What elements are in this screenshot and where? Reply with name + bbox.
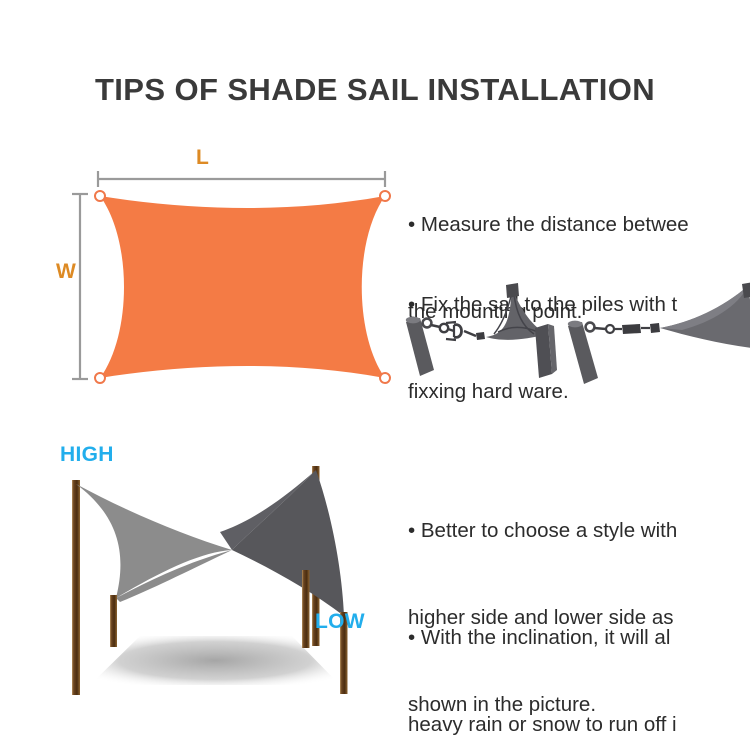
link-plate-icon — [476, 332, 485, 340]
turnbuckle-icon — [431, 322, 476, 340]
top-bracket-icon — [506, 283, 519, 298]
pole-front-middle-short — [110, 595, 117, 647]
hardware-illustration-1 — [402, 282, 582, 397]
inclined-canopy-scene: HIGH LOW — [20, 440, 420, 715]
length-dimension-line — [98, 171, 385, 187]
right-bracket-icon — [535, 324, 557, 378]
width-dimension-line — [72, 194, 88, 379]
orange-sail-shape — [100, 196, 385, 378]
high-label: HIGH — [60, 443, 114, 467]
bullet-line: • With the inclination, it will al — [408, 623, 750, 652]
length-label: L — [196, 146, 209, 170]
low-label: LOW — [315, 610, 365, 634]
hardware-illustration-2 — [562, 282, 750, 397]
eye-bolt-icon — [423, 319, 432, 328]
rect-sail-svg — [60, 148, 400, 398]
bullet-inclination-runoff: • With the inclination, it will al heavy… — [408, 565, 750, 750]
page-title: TIPS OF SHADE SAIL INSTALLATION — [0, 72, 750, 108]
turnbuckle-icon — [594, 325, 622, 333]
eye-bolt-icon — [586, 323, 595, 332]
hardware-svg-2 — [562, 282, 750, 397]
bullet-line: heavy rain or snow to run off i — [408, 710, 750, 739]
infographic-page: TIPS OF SHADE SAIL INSTALLATION — [0, 0, 750, 750]
rectangular-sail-diagram: L W — [60, 148, 400, 398]
turnbuckle-body-icon — [622, 324, 641, 334]
canopy-scene-svg — [20, 440, 420, 715]
pole-front-left-high — [72, 480, 80, 695]
bullet-line: • Better to choose a style with — [408, 516, 750, 545]
pole-front-right — [302, 570, 310, 648]
hardware-svg-1 — [402, 282, 582, 397]
link-plate-icon — [650, 323, 660, 333]
width-label: W — [56, 260, 76, 284]
sail-dark-gray — [232, 470, 344, 616]
